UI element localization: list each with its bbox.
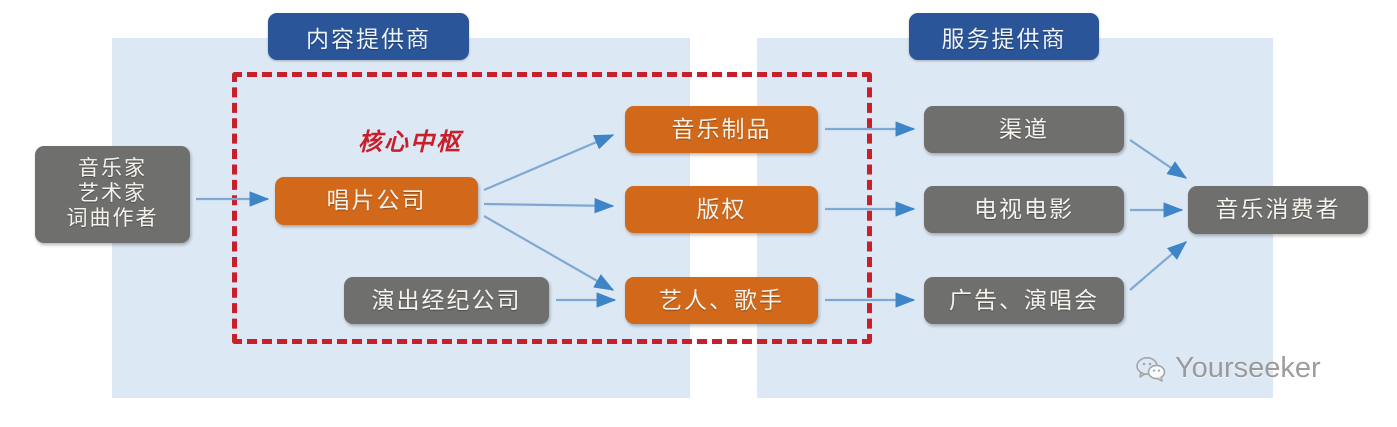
wechat-icon xyxy=(1136,356,1166,382)
node-music-consumers: 音乐消费者 xyxy=(1188,186,1368,234)
watermark: Yourseeker xyxy=(1136,352,1321,385)
node-creators: 音乐家 艺术家 词曲作者 xyxy=(35,146,190,243)
section-header-service-provider: 服务提供商 xyxy=(909,13,1099,60)
node-agency: 演出经纪公司 xyxy=(344,277,549,324)
node-channel: 渠道 xyxy=(924,106,1124,153)
node-label: 广告、演唱会 xyxy=(949,287,1099,314)
node-label: 唱片公司 xyxy=(327,187,427,214)
node-label: 版权 xyxy=(697,196,747,223)
node-tv-film: 电视电影 xyxy=(924,186,1124,233)
section-header-label: 服务提供商 xyxy=(942,20,1067,54)
node-label-line: 艺术家 xyxy=(78,182,147,207)
section-header-label: 内容提供商 xyxy=(306,20,431,54)
node-label: 电视电影 xyxy=(974,196,1074,223)
node-label: 艺人、歌手 xyxy=(659,287,784,314)
watermark-text: Yourseeker xyxy=(1175,352,1321,385)
node-copyright: 版权 xyxy=(625,186,818,233)
node-record-company: 唱片公司 xyxy=(275,177,478,225)
node-label: 演出经纪公司 xyxy=(372,287,522,314)
node-ads-concerts: 广告、演唱会 xyxy=(924,277,1124,324)
node-label: 音乐消费者 xyxy=(1216,196,1341,223)
core-hub-label: 核心中枢 xyxy=(330,122,490,157)
section-header-content-provider: 内容提供商 xyxy=(268,13,469,60)
node-label: 音乐制品 xyxy=(672,116,772,143)
node-label: 渠道 xyxy=(999,116,1049,143)
node-label-line: 词曲作者 xyxy=(67,207,159,232)
diagram-canvas: 内容提供商 服务提供商 核心中枢 音乐家 艺术家 词曲作者 唱片公司 演出经纪公… xyxy=(0,0,1397,427)
node-artists-singers: 艺人、歌手 xyxy=(625,277,818,324)
node-label-line: 音乐家 xyxy=(78,157,147,182)
node-music-products: 音乐制品 xyxy=(625,106,818,153)
